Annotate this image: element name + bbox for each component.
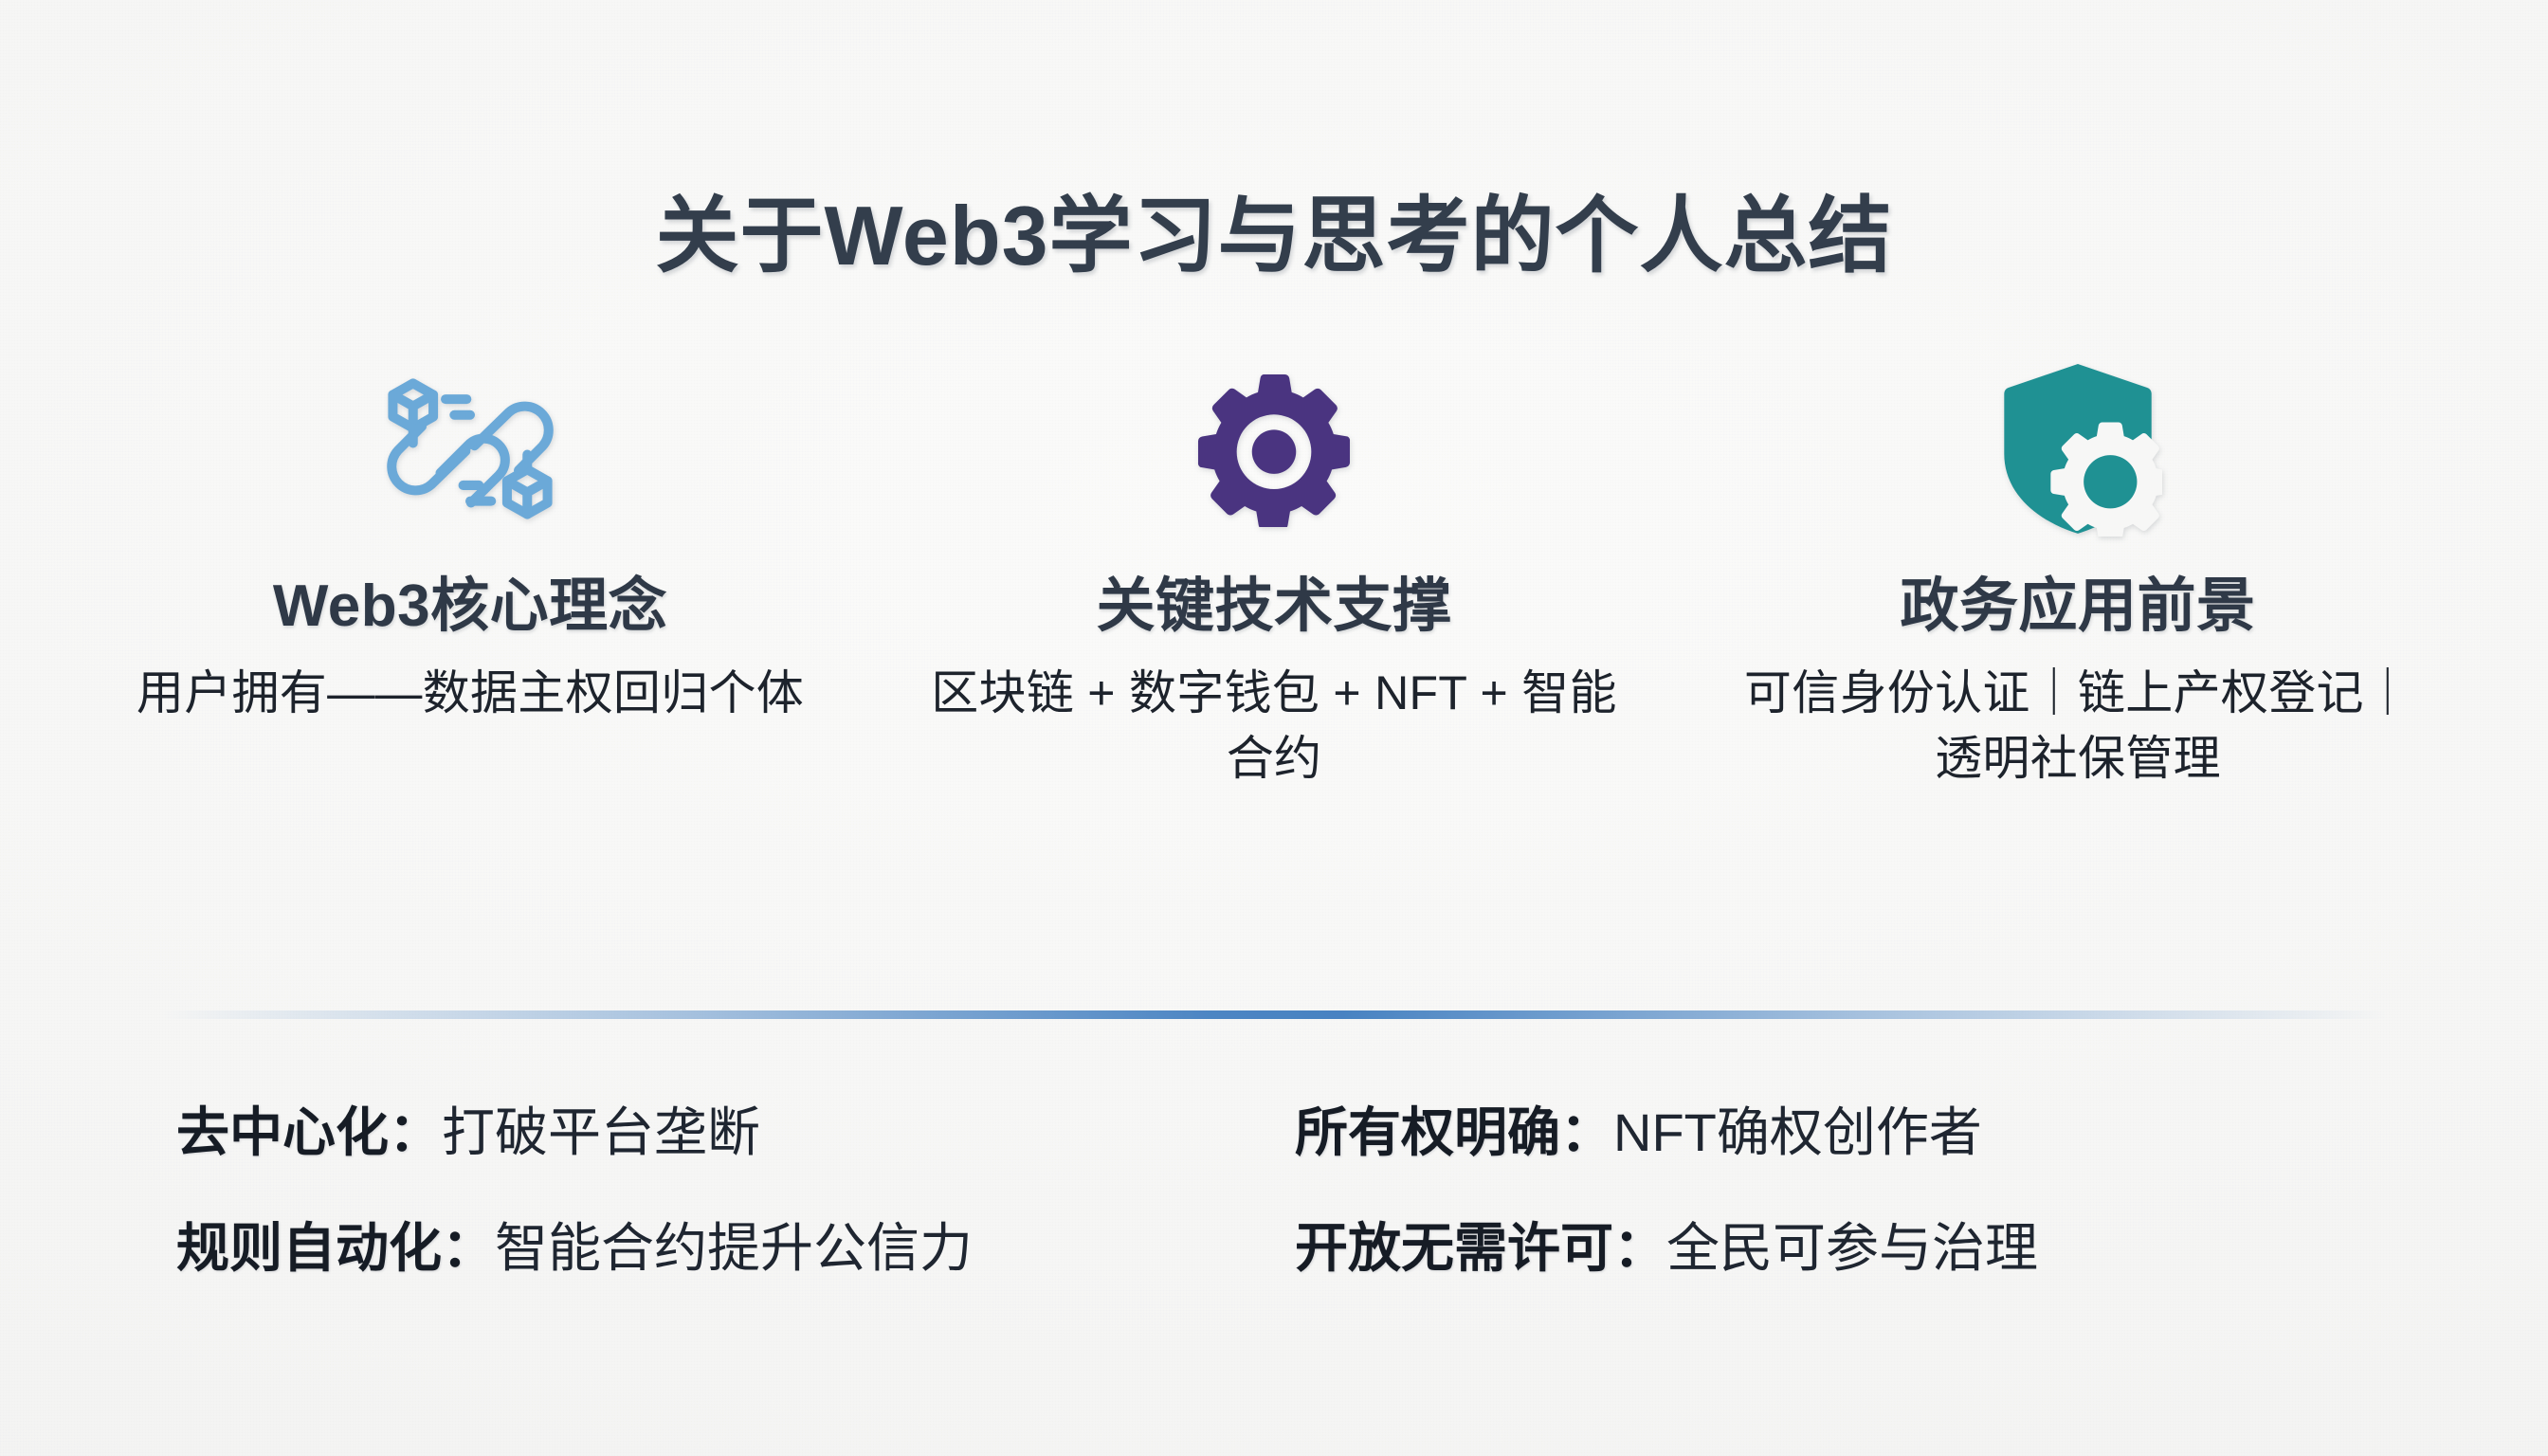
shield-gear-icon <box>1699 349 2457 548</box>
slide-canvas: 关于Web3学习与思考的个人总结 <box>0 0 2548 1456</box>
key-point-value: 全民可参与治理 <box>1666 1218 2038 1278</box>
key-point-label: 开放无需许可： <box>1295 1218 1666 1278</box>
section-divider <box>161 1010 2389 1019</box>
pillar-title: Web3核心理念 <box>91 573 849 640</box>
page-title-container: 关于Web3学习与思考的个人总结 <box>0 135 2548 338</box>
pillar-title: 政务应用前景 <box>1699 573 2457 640</box>
key-point-value: NFT确权创作者 <box>1613 1102 1982 1162</box>
key-point-item: 所有权明确：NFT确权创作者 <box>1295 1100 2385 1166</box>
key-point-value: 智能合约提升公信力 <box>495 1218 973 1278</box>
key-point-label: 规则自动化： <box>176 1218 495 1278</box>
key-point-item: 规则自动化：智能合约提升公信力 <box>176 1215 1266 1282</box>
pillar-key-tech: 关键技术支撑 区块链 + 数字钱包 + NFT + 智能合约 <box>895 349 1653 792</box>
pillars-row: Web3核心理念 用户拥有——数据主权回归个体 关键技术支撑 区块链 + 数字钱… <box>91 349 2457 792</box>
key-points-grid: 去中心化：打破平台垄断 所有权明确：NFT确权创作者 规则自动化：智能合约提升公… <box>176 1100 2385 1282</box>
pillar-description: 可信身份认证｜链上产权登记｜透明社保管理 <box>1727 661 2429 792</box>
pillar-description: 用户拥有——数据主权回归个体 <box>119 661 821 726</box>
pillar-gov-application: 政务应用前景 可信身份认证｜链上产权登记｜透明社保管理 <box>1699 349 2457 792</box>
key-point-label: 去中心化： <box>176 1102 442 1162</box>
key-point-item: 去中心化：打破平台垄断 <box>176 1100 1266 1166</box>
key-point-label: 所有权明确： <box>1295 1102 1613 1162</box>
gear-icon <box>895 349 1653 548</box>
pillar-web3-core: Web3核心理念 用户拥有——数据主权回归个体 <box>91 349 849 726</box>
key-point-value: 打破平台垄断 <box>442 1102 760 1162</box>
pillar-title: 关键技术支撑 <box>895 573 1653 640</box>
blockchain-link-icon <box>91 349 849 548</box>
page-title: 关于Web3学习与思考的个人总结 <box>655 191 1892 282</box>
key-point-item: 开放无需许可：全民可参与治理 <box>1295 1215 2385 1282</box>
pillar-description: 区块链 + 数字钱包 + NFT + 智能合约 <box>923 661 1625 792</box>
